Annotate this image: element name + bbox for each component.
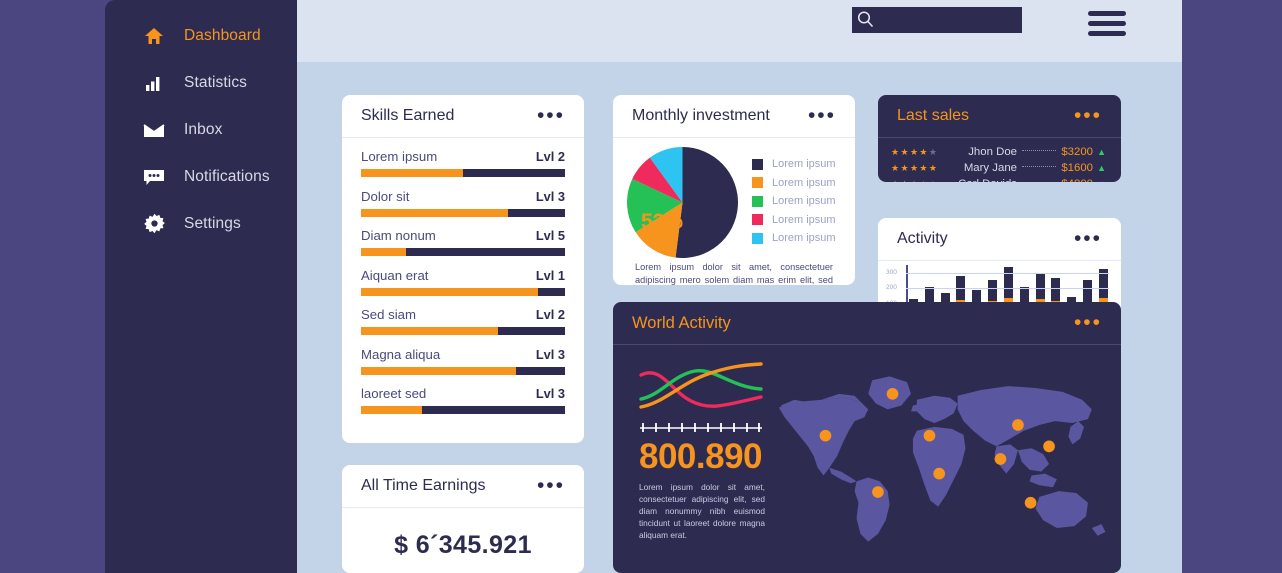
pie-center-label: 52% — [641, 210, 683, 234]
card-header: Skills Earned ••• — [342, 95, 584, 137]
card-monthly-investment: Monthly investment ••• 52% Lorem ipsumLo… — [613, 95, 855, 285]
map-dot-india — [995, 453, 1007, 465]
world-map — [771, 345, 1121, 573]
sale-amount: $4800 — [1061, 178, 1093, 182]
star-rating: ★★★★★ — [891, 147, 949, 158]
top-header — [297, 0, 1182, 62]
sidebar-item-dashboard[interactable]: Dashboard — [105, 12, 297, 59]
legend-swatch — [752, 177, 763, 188]
sales-row[interactable]: ★★★★★Mary Jane$1600▲ — [891, 160, 1106, 176]
card-menu-icon[interactable]: ••• — [537, 480, 565, 492]
legend-label: Lorem ipsum — [772, 214, 836, 226]
bar-segment-upper — [1083, 280, 1092, 302]
card-title: Skills Earned — [361, 107, 454, 125]
map-dot-greenland — [887, 388, 899, 400]
skill-name: Diam nonum — [361, 228, 436, 243]
legend-swatch — [752, 159, 763, 170]
map-dot-australia — [1025, 497, 1037, 509]
bar-chart-icon — [143, 72, 165, 94]
sidebar: Dashboard Statistics Inbox — [105, 0, 297, 573]
card-header: All Time Earnings ••• — [342, 465, 584, 507]
card-all-time-earnings: All Time Earnings ••• $ 6´345.921 — [342, 465, 584, 573]
search-input[interactable] — [882, 7, 1020, 33]
legend-item: Lorem ipsum — [752, 177, 836, 189]
legend-label: Lorem ipsum — [772, 177, 836, 189]
star-rating: ★★★★★ — [891, 179, 949, 183]
legend-swatch — [752, 233, 763, 244]
skill-row: Diam nonumLvl 5 — [361, 228, 565, 256]
chat-bubble-icon — [143, 166, 165, 188]
gridline — [906, 288, 1109, 289]
skill-row: Aiquan eratLvl 1 — [361, 268, 565, 296]
card-menu-icon[interactable]: ••• — [808, 110, 836, 122]
skill-progress-bar — [361, 406, 565, 414]
legend-item: Lorem ipsum — [752, 195, 836, 207]
card-skills-earned: Skills Earned ••• Lorem ipsumLvl 2Dolor … — [342, 95, 584, 443]
trend-down-icon: ▼ — [1093, 179, 1106, 182]
skill-level: Lvl 1 — [536, 268, 565, 283]
skill-level: Lvl 3 — [536, 347, 565, 362]
sidebar-item-settings[interactable]: Settings — [105, 200, 297, 247]
bar-segment-upper — [1036, 273, 1045, 299]
map-dot-russia — [1012, 419, 1024, 431]
skill-row: Magna aliquaLvl 3 — [361, 347, 565, 375]
legend-label: Lorem ipsum — [772, 232, 836, 244]
card-header: Monthly investment ••• — [613, 95, 855, 137]
pie-legend: Lorem ipsumLorem ipsumLorem ipsumLorem i… — [738, 147, 836, 258]
customer-name: Mary Jane — [949, 162, 1017, 174]
sidebar-item-statistics[interactable]: Statistics — [105, 59, 297, 106]
legend-label: Lorem ipsum — [772, 195, 836, 207]
skill-name: Sed siam — [361, 307, 416, 322]
investment-note: Lorem ipsum dolor sit amet, consectetuer… — [613, 258, 855, 285]
dotted-leader — [1022, 166, 1056, 167]
skill-progress-bar — [361, 327, 565, 335]
sidebar-item-label: Notifications — [184, 168, 270, 186]
legend-swatch — [752, 214, 763, 225]
bar-segment-upper — [988, 280, 997, 301]
skill-progress-bar — [361, 169, 565, 177]
card-menu-icon[interactable]: ••• — [1074, 317, 1102, 329]
world-activity-note: Lorem ipsum dolor sit amet, consectetuer… — [639, 481, 765, 541]
y-axis-label: 200 — [886, 284, 897, 291]
skill-progress-bar — [361, 367, 565, 375]
legend-item: Lorem ipsum — [752, 158, 836, 170]
map-dot-africa — [933, 468, 945, 480]
map-dot-japan — [1043, 441, 1055, 453]
hamburger-menu-icon[interactable] — [1088, 11, 1126, 36]
skill-row: Lorem ipsumLvl 2 — [361, 149, 565, 177]
trend-up-icon: ▲ — [1093, 163, 1106, 173]
card-header: World Activity ••• — [613, 302, 1121, 344]
sales-row[interactable]: ★★★★★Jhon Doe$3200▲ — [891, 144, 1106, 160]
divider — [878, 260, 1121, 261]
skill-level: Lvl 3 — [536, 386, 565, 401]
bar-segment-upper — [1051, 278, 1060, 301]
home-icon — [143, 25, 165, 47]
legend-label: Lorem ipsum — [772, 158, 836, 170]
skill-level: Lvl 2 — [536, 307, 565, 322]
skill-row: Dolor sitLvl 3 — [361, 189, 565, 217]
skill-name: Lorem ipsum — [361, 149, 437, 164]
customer-name: Carl Davids — [949, 178, 1017, 182]
sidebar-item-notifications[interactable]: Notifications — [105, 153, 297, 200]
skill-progress-bar — [361, 248, 565, 256]
card-menu-icon[interactable]: ••• — [537, 110, 565, 122]
skills-list: Lorem ipsumLvl 2Dolor sitLvl 3Diam nonum… — [342, 138, 584, 414]
dotted-leader — [1022, 150, 1056, 151]
sales-row[interactable]: ★★★★★Carl Davids$4800▼ — [891, 176, 1106, 182]
envelope-icon — [143, 119, 165, 141]
sale-amount: $1600 — [1061, 162, 1093, 174]
card-title: Activity — [897, 230, 948, 248]
pie-chart: 52% — [627, 147, 738, 258]
sidebar-item-label: Settings — [184, 215, 241, 233]
skill-row: Sed siamLvl 2 — [361, 307, 565, 335]
card-title: Monthly investment — [632, 107, 770, 125]
world-activity-value: 800.890 — [639, 437, 762, 477]
sidebar-item-label: Statistics — [184, 74, 247, 92]
y-axis-label: 300 — [886, 269, 897, 276]
customer-name: Jhon Doe — [949, 146, 1017, 158]
legend-swatch — [752, 196, 763, 207]
gear-icon — [143, 213, 165, 235]
legend-item: Lorem ipsum — [752, 232, 836, 244]
sale-amount: $3200 — [1061, 146, 1093, 158]
card-menu-icon[interactable]: ••• — [1074, 233, 1102, 245]
card-title: World Activity — [632, 314, 731, 333]
main-content: Skills Earned ••• Lorem ipsumLvl 2Dolor … — [297, 62, 1182, 573]
skill-name: laoreet sed — [361, 386, 426, 401]
map-dot-north-america — [820, 430, 832, 442]
sales-list: ★★★★★Jhon Doe$3200▲★★★★★Mary Jane$1600▲★… — [878, 138, 1121, 182]
map-dot-europe — [924, 430, 936, 442]
map-dot-south-america — [872, 486, 884, 498]
sidebar-item-label: Dashboard — [184, 27, 261, 45]
skill-progress-bar — [361, 209, 565, 217]
card-world-activity: World Activity ••• 800.890 Lor — [613, 302, 1121, 573]
skill-level: Lvl 3 — [536, 189, 565, 204]
card-menu-icon[interactable]: ••• — [1074, 110, 1102, 122]
search-icon — [856, 10, 875, 34]
skill-name: Magna aliqua — [361, 347, 440, 362]
card-header: Activity ••• — [878, 218, 1121, 260]
sparkline-axis — [639, 421, 763, 433]
card-title: Last sales — [897, 107, 969, 125]
sidebar-item-label: Inbox — [184, 121, 222, 139]
earnings-value: $ 6´345.921 — [342, 508, 584, 560]
skill-level: Lvl 2 — [536, 149, 565, 164]
pie-slice — [676, 147, 738, 258]
skill-name: Aiquan erat — [361, 268, 428, 283]
star-rating: ★★★★★ — [891, 163, 949, 174]
skill-name: Dolor sit — [361, 189, 409, 204]
gridline — [906, 273, 1109, 274]
sidebar-item-inbox[interactable]: Inbox — [105, 106, 297, 153]
card-header: Last sales ••• — [878, 95, 1121, 137]
skill-row: laoreet sedLvl 3 — [361, 386, 565, 414]
legend-item: Lorem ipsum — [752, 214, 836, 226]
card-title: All Time Earnings — [361, 477, 486, 495]
skill-level: Lvl 5 — [536, 228, 565, 243]
skill-progress-bar — [361, 288, 565, 296]
map-landmasses — [779, 376, 1106, 541]
card-last-sales: Last sales ••• ★★★★★Jhon Doe$3200▲★★★★★M… — [878, 95, 1121, 182]
sparkline-chart — [639, 361, 763, 418]
trend-up-icon: ▲ — [1093, 147, 1106, 157]
